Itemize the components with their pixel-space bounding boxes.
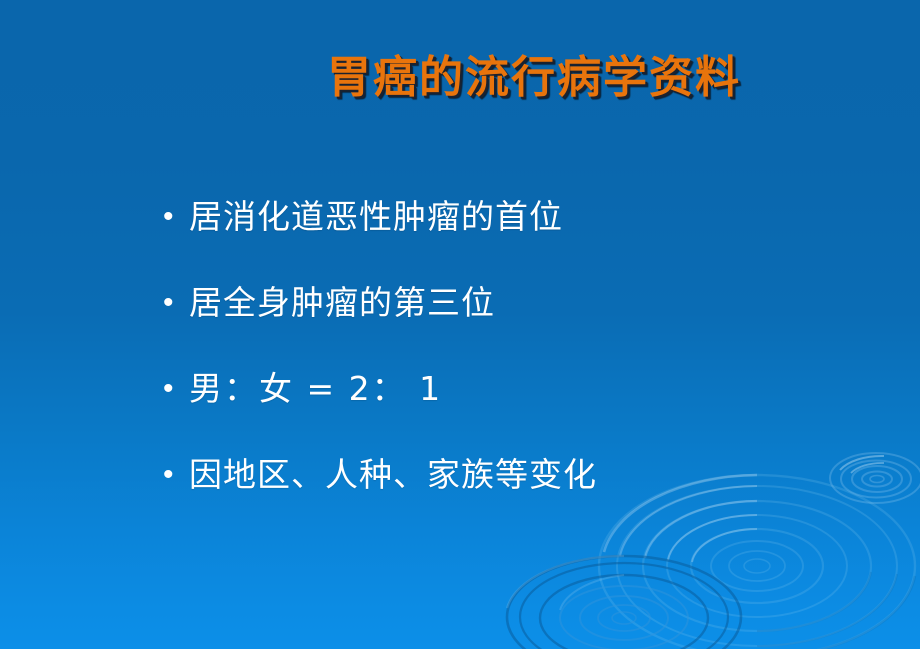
bullet-dot-icon: • bbox=[163, 460, 189, 490]
large-ripple-center bbox=[599, 475, 915, 649]
bullet-text: 居消化道恶性肿瘤的首位 bbox=[189, 198, 563, 236]
list-item: • 男：女 = 2： 1 bbox=[163, 370, 863, 456]
bullet-dot-icon: • bbox=[163, 374, 189, 404]
bullet-text: 男：女 = 2： 1 bbox=[189, 370, 442, 408]
page-title: 胃癌的流行病学资料 bbox=[327, 52, 741, 105]
large-ripple-shadow bbox=[757, 572, 915, 649]
bullet-list: • 居消化道恶性肿瘤的首位 • 居全身肿瘤的第三位 • 男：女 = 2： 1 •… bbox=[163, 198, 863, 494]
slide-canvas: 胃癌的流行病学资料 • 居消化道恶性肿瘤的首位 • 居全身肿瘤的第三位 • 男：… bbox=[0, 0, 920, 649]
title-area: 胃癌的流行病学资料 bbox=[0, 52, 920, 105]
list-item: • 居消化道恶性肿瘤的首位 bbox=[163, 198, 863, 284]
bullet-text: 居全身肿瘤的第三位 bbox=[189, 284, 495, 322]
bullet-dot-icon: • bbox=[163, 288, 189, 318]
list-item: • 因地区、人种、家族等变化 bbox=[163, 456, 863, 494]
list-item: • 居全身肿瘤的第三位 bbox=[163, 284, 863, 370]
dark-ripple-bottom-left bbox=[507, 556, 741, 649]
bullet-dot-icon: • bbox=[163, 202, 189, 232]
dark-ripple-inner bbox=[560, 586, 688, 649]
dark-ripple-highlight bbox=[507, 556, 624, 610]
bullet-text: 因地区、人种、家族等变化 bbox=[189, 456, 597, 494]
